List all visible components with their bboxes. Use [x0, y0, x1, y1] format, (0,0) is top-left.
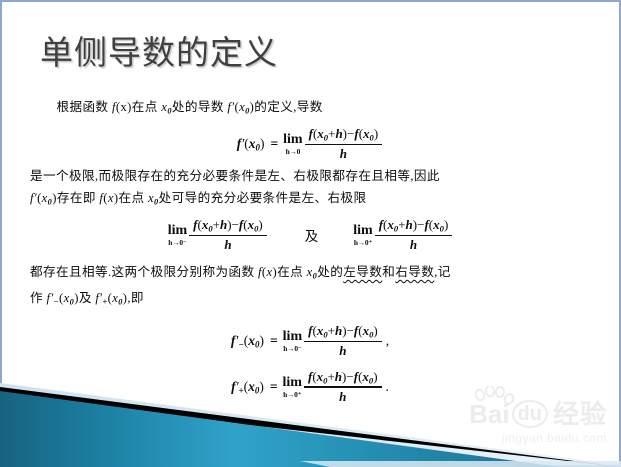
fld-x-sub: 0 [255, 340, 259, 350]
f1-num-h: h [335, 126, 342, 141]
decorative-banner [0, 377, 621, 467]
p3-conj: 和 [382, 265, 395, 279]
fr-frac: f(x0+h)−f(x0) h [375, 217, 453, 253]
paragraph-1: 根据函数 f(x)在点 x0处的导数 f′(x0)的定义,导数 [30, 96, 590, 122]
formula-one-sided-limits: lim h→0⁻ f(x0+h)−f(x0) h 及 lim h→0⁺ f(x0… [30, 217, 590, 253]
fr-num: f(x0+h)−f(x0) [375, 217, 453, 234]
f1-num: f(x0+h)−f(x0) [305, 126, 383, 143]
paragraph-3: 都存在且相等.这两个极限分别称为函数 f(x)在点 x0处的左导数和右导数,记 … [30, 261, 590, 314]
formula-left-limit: lim h→0⁻ f(x0+h)−f(x0) h [167, 217, 268, 253]
p3-line2-conj: 及 [79, 291, 96, 305]
f1-frac: f(x0+h)−f(x0) h [305, 126, 383, 162]
p2-c: 处可导的充分必要条件是左、右极限 [159, 191, 367, 205]
fld-den: h [335, 342, 350, 359]
p1-mid2: 处的导数 [172, 100, 228, 114]
p1-prefix: 根据函数 [56, 100, 112, 114]
fld-num-x2-sub: 0 [369, 330, 373, 340]
fld-num-f1: f [308, 323, 312, 338]
term-left-derivative: 左导数 [343, 265, 382, 279]
f1-x: x [249, 136, 256, 151]
p3-a: 都存在且相等.这两个极限分别称为函数 [30, 265, 258, 279]
fr-lim-op: lim [353, 224, 372, 238]
p3-x3-sub: 0 [118, 297, 123, 306]
fld-eq: = [270, 333, 278, 349]
p2-prime: ′ [34, 191, 37, 205]
fl-num-f1: f [193, 217, 197, 232]
p3-line2-end: ,即 [127, 291, 144, 305]
formula-left-derivative-def: f′−(x0) = lim h→0⁻ f(x0+h)−f(x0) h , [30, 323, 590, 359]
f1-eq: = [270, 136, 278, 152]
f1-x-sub: 0 [256, 142, 260, 152]
p3-x: x [267, 265, 273, 279]
p2-x2: x [108, 191, 114, 205]
p1-f-arg: (x) [116, 100, 132, 114]
slide-canvas: 单侧导数的定义 根据函数 f(x)在点 x0处的导数 f′(x0)的定义,导数 … [0, 0, 621, 467]
fl-lim-under: h→0⁻ [168, 239, 186, 246]
fld-lim: lim h→0⁻ [283, 330, 302, 352]
p2-a: 存在即 [57, 191, 100, 205]
fr-num-f1: f [379, 217, 383, 232]
fld-comma: , [386, 333, 389, 349]
fld-sub: − [238, 340, 243, 350]
p2-line1: 是一个极限,而极限存在的充分必要条件是左、右极限都存在且相等,因此 [30, 169, 440, 183]
f1-prime: ′ [241, 136, 244, 151]
fr-num-plus: + [398, 217, 405, 232]
fr-den: h [406, 236, 421, 253]
f1-num-f2: f [354, 126, 358, 141]
slide-body: 根据函数 f(x)在点 x0处的导数 f′(x0)的定义,导数 f′(x0) =… [30, 96, 590, 408]
fl-lim-op: lim [168, 224, 187, 238]
p3-d: ,记 [434, 265, 451, 279]
fr-lim-under: h→0⁺ [354, 239, 372, 246]
fld-lhs: f′−(x0) [231, 333, 264, 349]
p3-line2-a: 作 [30, 291, 47, 305]
fl-num: f(x0+h)−f(x0) [189, 217, 267, 234]
fl-num-plus: + [213, 217, 220, 232]
fld-num-plus: + [328, 323, 335, 338]
f1-lim: lim h→0 [283, 133, 302, 155]
fld-x: x [248, 333, 255, 348]
formula-right-limit: lim h→0⁺ f(x0+h)−f(x0) h [352, 217, 453, 253]
bottom-edge-accent [300, 461, 621, 467]
fld-num-f2: f [354, 323, 358, 338]
fl-num-x2-sub: 0 [254, 224, 258, 234]
paragraph-2: 是一个极限,而极限存在的充分必要条件是左、右极限都存在且相等,因此 f′(x0)… [30, 165, 590, 213]
fl-frac: f(x0+h)−f(x0) h [189, 217, 267, 253]
f1-num-f1: f [309, 126, 313, 141]
fl-num-h: h [220, 217, 227, 232]
formula-derivative-definition: f′(x0) = lim h→0 f(x0+h)−f(x0) h [30, 126, 590, 162]
p2-f2: f [99, 191, 103, 205]
fld-lim-under: h→0⁻ [283, 345, 301, 352]
fl-lim: lim h→0⁻ [168, 224, 187, 246]
fl-den: h [220, 236, 235, 253]
fr-num-h: h [406, 217, 413, 232]
formula-1-lhs: f′(x0) [237, 136, 265, 152]
term-right-derivative: 右导数 [395, 265, 434, 279]
f1-lim-op: lim [283, 133, 302, 147]
fr-num-x2-sub: 0 [440, 224, 444, 234]
fld-num-minus: − [347, 323, 354, 338]
formula-conjunction: 及 [305, 225, 319, 245]
p3-x2-sub: 0 [70, 297, 75, 306]
fld-frac: f(x0+h)−f(x0) h [304, 323, 382, 359]
formula-1-expr: f′(x0) = lim h→0 f(x0+h)−f(x0) h [237, 126, 383, 162]
fld-num-h: h [335, 323, 342, 338]
fr-num-f2: f [424, 217, 428, 232]
f1-num-x2-sub: 0 [370, 133, 374, 143]
fld-num: f(x0+h)−f(x0) [304, 323, 382, 340]
fr-lim: lim h→0⁺ [353, 224, 372, 246]
p3-f: f [258, 265, 262, 279]
f1-lim-under: h→0 [286, 148, 301, 155]
fld-expr: f′−(x0) = lim h→0⁻ f(x0+h)−f(x0) h , [231, 323, 389, 359]
slide-title: 单侧导数的定义 [40, 26, 278, 74]
f1-den: h [336, 145, 351, 162]
p3-b: 在点 [277, 265, 307, 279]
p2-b: 在点 [119, 191, 149, 205]
fl-num-minus: − [232, 217, 239, 232]
p3-plus-sub: + [102, 297, 107, 306]
p3-minus-sub: − [54, 297, 59, 306]
p1-mid1: 在点 [132, 100, 162, 114]
p3-c: 处的 [317, 265, 343, 279]
fl-num-f2: f [239, 217, 243, 232]
slide-border-top [0, 0, 621, 2]
p1-suffix: 的定义,导数 [254, 100, 323, 114]
fld-lim-op: lim [283, 330, 302, 344]
p2-x-sub: 0 [48, 197, 53, 206]
